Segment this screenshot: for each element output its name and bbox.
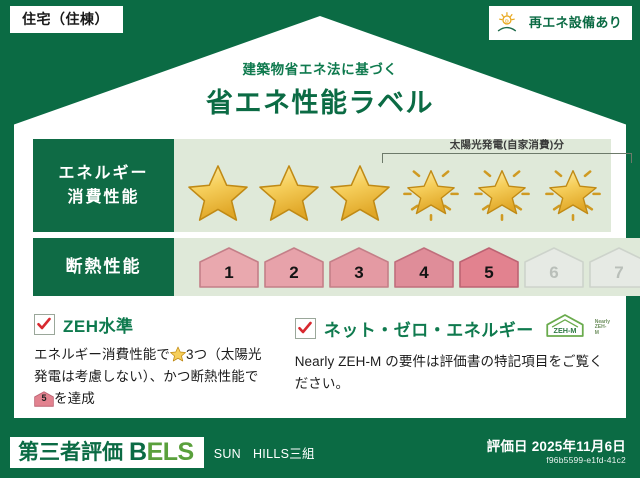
energy-performance-row: エネルギー 消費性能 太陽光発電(自家消費)分 — [33, 139, 611, 232]
inline-house-number: 5 — [34, 391, 54, 407]
insulation-level-number: 5 — [484, 264, 493, 289]
dwelling-type-label: 住宅（住棟） — [22, 11, 109, 27]
insulation-level-number: 4 — [419, 264, 428, 289]
insulation-level-number: 2 — [289, 264, 298, 289]
house-icon: 5 — [34, 391, 54, 407]
zeh-m-logo-icon: ZEH-M — [542, 312, 586, 344]
zeh-standard-panel: ZEH水準 エネルギー消費性能で3つ（太陽光発電は考慮しない）、かつ断熱性能で5… — [24, 312, 285, 410]
energy-label-line1: エネルギー — [58, 162, 148, 185]
check-icon — [295, 318, 316, 339]
zeh-body-part3: を達成 — [54, 391, 95, 406]
label-title-block: 建築物省エネ法に基づく 省エネ性能ラベル — [0, 58, 640, 120]
owner-name-part2: HILLS三組 — [253, 447, 315, 461]
bels-letters-els: ELS — [147, 438, 194, 466]
house-icon: 6 — [523, 246, 585, 289]
house-icon: 3 — [328, 246, 390, 289]
house-icon: 1 — [198, 246, 260, 289]
insulation-level-number: 7 — [614, 264, 623, 289]
energy-label-root: 住宅（住棟） D 再エネ設備あり 建築物省エネ法に基づく 省エネ性能ラベル — [0, 0, 640, 478]
energy-performance-body: 太陽光発電(自家消費)分 — [174, 139, 611, 232]
evaluation-info: 評価日 2025年11月6日 f96b5599-e1fd-41c2 — [487, 439, 626, 465]
zeh-standard-header: ZEH水準 — [34, 312, 267, 337]
house-icon: 5 — [458, 246, 520, 289]
evaluation-id: f96b5599-e1fd-41c2 — [487, 455, 626, 465]
insulation-performance-label: 断熱性能 — [33, 238, 174, 296]
star-icon-solar — [466, 158, 537, 228]
solar-annotation-bracket — [382, 153, 632, 163]
star-icon — [324, 158, 395, 228]
check-icon — [34, 314, 55, 335]
insulation-performance-body: 1 2 3 4 — [174, 238, 640, 296]
sun-icon: D — [497, 11, 523, 35]
net-zero-energy-title: ネット・ゼロ・エネルギー — [324, 316, 534, 341]
building-owner-name: SUNHILLS三組 — [214, 443, 315, 462]
bels-letter-b: B — [129, 438, 147, 466]
insulation-level-number: 6 — [549, 264, 558, 289]
energy-performance-label: エネルギー 消費性能 — [33, 139, 174, 232]
house-icon: 4 — [393, 246, 455, 289]
evaluation-date: 評価日 2025年11月6日 — [487, 439, 626, 455]
net-zero-energy-header: ネット・ゼロ・エネルギー ZEH-M Nearly ZEH-M — [295, 312, 610, 344]
bels-jp-label: 第三者評価 — [18, 442, 123, 463]
renewable-energy-badge: D 再エネ設備あり — [489, 6, 632, 40]
star-icon-solar — [537, 158, 608, 228]
svg-text:D: D — [505, 18, 509, 24]
bels-en-label: BELS — [129, 440, 194, 465]
house-icon: 7 — [588, 246, 640, 289]
zeh-m-caption-line2: ZEH-M — [595, 324, 607, 335]
star-icon — [182, 158, 253, 228]
dwelling-type-tag: 住宅（住棟） — [10, 6, 123, 33]
label-title: 省エネ性能ラベル — [0, 81, 640, 120]
svg-text:ZEH-M: ZEH-M — [553, 326, 576, 335]
bels-logo: 第三者評価 BELS — [10, 437, 204, 468]
label-subtitle: 建築物省エネ法に基づく — [0, 58, 640, 78]
label-footer: 第三者評価 BELS SUNHILLS三組 評価日 2025年11月6日 f96… — [0, 426, 640, 478]
zeh-standard-body: エネルギー消費性能で3つ（太陽光発電は考慮しない）、かつ断熱性能で5を達成 — [34, 344, 267, 410]
star-icon — [253, 158, 324, 228]
insulation-level-number: 3 — [354, 264, 363, 289]
zeh-standard-title: ZEH水準 — [63, 312, 134, 337]
net-zero-energy-panel: ネット・ゼロ・エネルギー ZEH-M Nearly ZEH-M Nearly Z… — [285, 312, 620, 410]
energy-label-line2: 消費性能 — [67, 186, 139, 209]
criteria-panels: ZEH水準 エネルギー消費性能で3つ（太陽光発電は考慮しない）、かつ断熱性能で5… — [24, 312, 620, 410]
star-icon — [170, 346, 186, 362]
zeh-m-logo-caption: Nearly ZEH-M — [595, 320, 610, 336]
evaluation-date-value: 2025年11月6日 — [532, 439, 626, 454]
net-zero-energy-body: Nearly ZEH-M の要件は評価書の特記項目をご覧ください。 — [295, 351, 610, 395]
solar-generation-annotation: 太陽光発電(自家消費)分 — [382, 137, 632, 163]
star-icon-solar — [395, 158, 466, 228]
evaluation-date-label: 評価日 — [487, 439, 528, 454]
insulation-level-number: 1 — [224, 264, 233, 289]
house-icon: 2 — [263, 246, 325, 289]
solar-annotation-label: 太陽光発電(自家消費)分 — [382, 137, 632, 152]
owner-name-part1: SUN — [214, 447, 241, 461]
insulation-performance-row: 断熱性能 1 2 — [33, 238, 611, 296]
zeh-body-part1: エネルギー消費性能で — [34, 347, 170, 362]
insulation-level-scale: 1 2 3 4 — [174, 246, 640, 289]
insulation-label-text: 断熱性能 — [66, 257, 142, 277]
renewable-badge-label: 再エネ設備あり — [529, 16, 622, 30]
